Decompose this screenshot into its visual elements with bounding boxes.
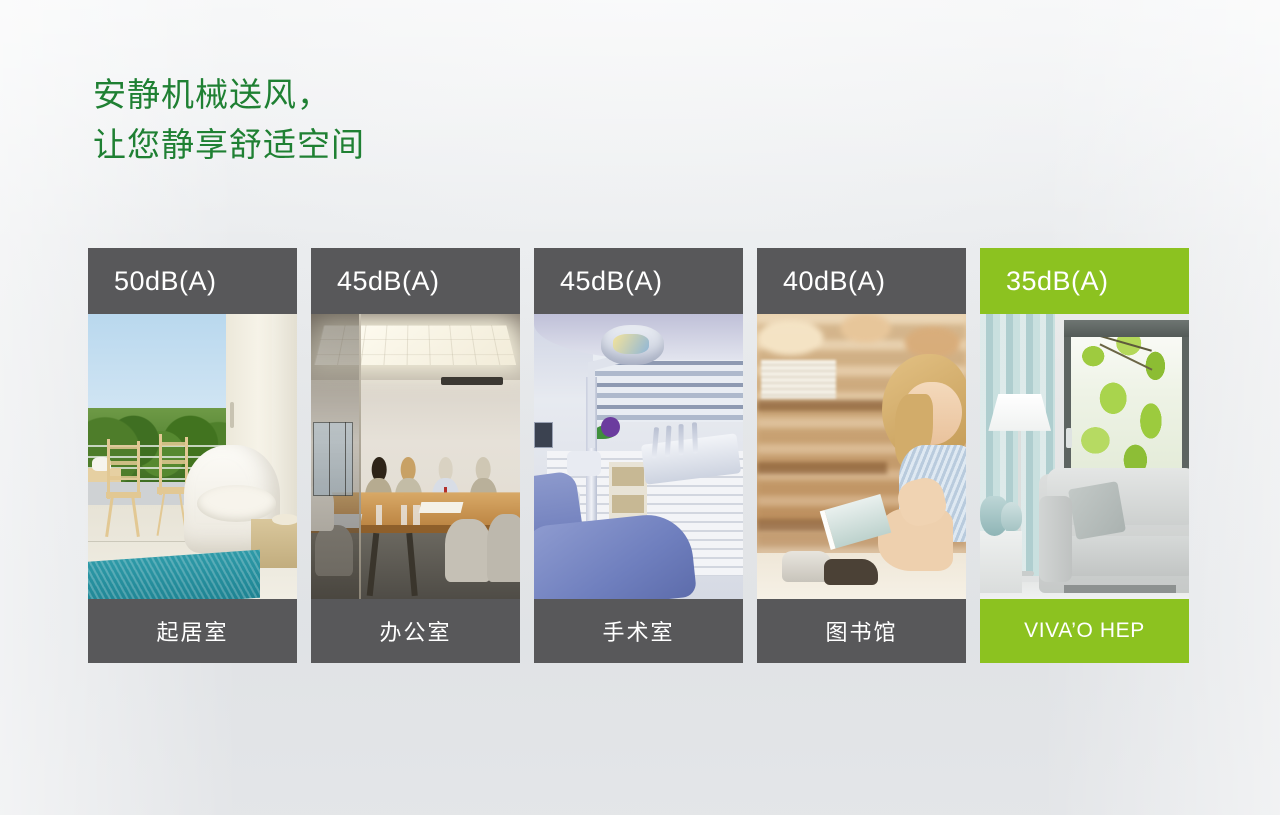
slide-headline: 安静机械送风， 让您静享舒适空间 — [93, 70, 365, 170]
location-label: VIVA’O HEP — [980, 599, 1189, 663]
location-label: 手术室 — [534, 599, 743, 663]
noise-level-badge: 50dB(A) — [88, 248, 297, 314]
noise-card-operating-room[interactable]: 45dB(A) — [534, 248, 743, 663]
noise-level-badge: 40dB(A) — [757, 248, 966, 314]
location-label: 办公室 — [311, 599, 520, 663]
card-photo-meeting-room — [311, 314, 520, 599]
noise-level-badge: 45dB(A) — [534, 248, 743, 314]
card-photo-library — [757, 314, 966, 599]
location-label: 起居室 — [88, 599, 297, 663]
location-label: 图书馆 — [757, 599, 966, 663]
noise-level-badge: 45dB(A) — [311, 248, 520, 314]
noise-card-living-room[interactable]: 50dB(A) 起居室 — [88, 248, 297, 663]
noise-comparison-card-strip: 50dB(A) 起居室 — [88, 248, 1192, 663]
card-photo-modern-living-room — [980, 314, 1189, 599]
card-photo-dental-room — [534, 314, 743, 599]
noise-card-office[interactable]: 45dB(A) — [311, 248, 520, 663]
noise-card-vivao-hep[interactable]: 35dB(A) — [980, 248, 1189, 663]
card-photo-balcony — [88, 314, 297, 599]
noise-level-badge: 35dB(A) — [980, 248, 1189, 314]
noise-card-library[interactable]: 40dB(A) 图书馆 — [757, 248, 966, 663]
